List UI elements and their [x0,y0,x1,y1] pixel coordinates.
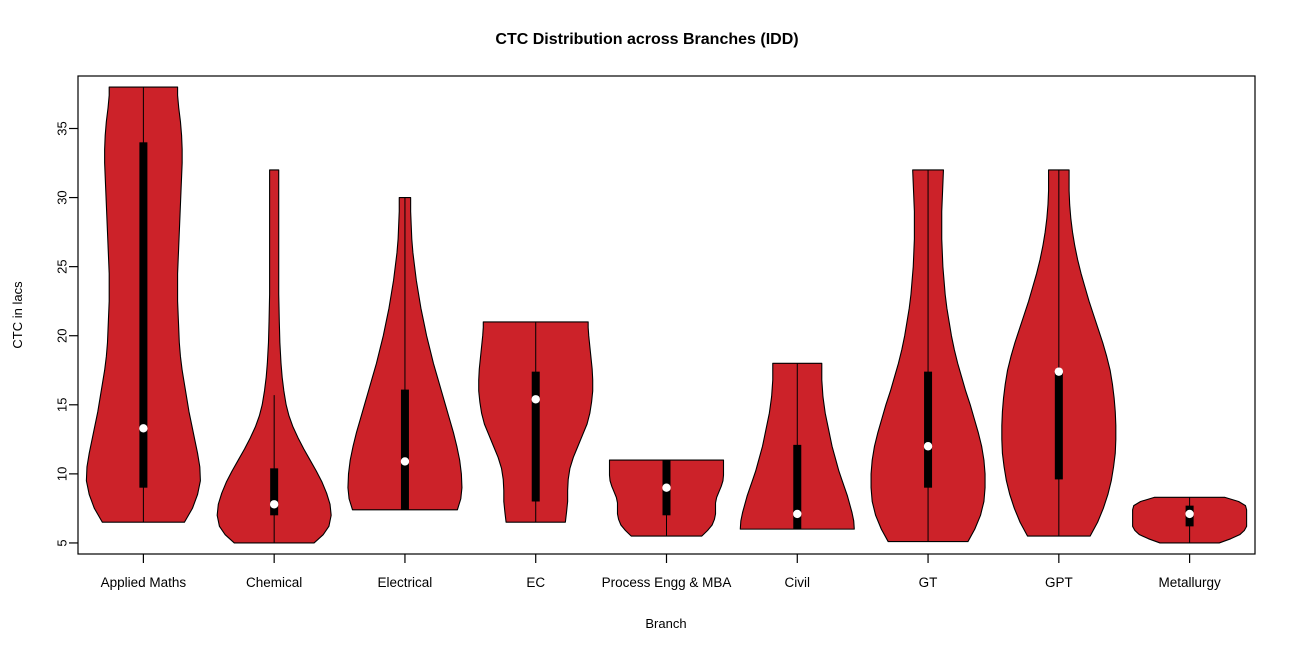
y-tick-label: 5 [55,539,70,546]
y-tick-label: 20 [55,328,70,342]
iqr-box [1055,372,1063,480]
median-marker [1055,367,1063,375]
y-tick-label: 15 [55,398,70,412]
x-tick-label: Metallurgy [1158,575,1221,590]
x-tick-label: EC [526,575,545,590]
x-tick-label: Chemical [246,575,302,590]
violin-series-group [86,87,1246,543]
iqr-box [401,390,409,510]
chart-title: CTC Distribution across Branches (IDD) [495,31,798,48]
x-axis-ticks [143,554,1189,563]
violin-metallurgy [1133,497,1247,543]
violin-ec [479,322,593,522]
violin-civil [740,363,854,529]
y-axis-ticks: 5101520253035 [55,121,79,546]
iqr-box [532,372,540,502]
x-tick-label: GT [919,575,938,590]
median-marker [270,500,278,508]
violin-gpt [1002,170,1116,536]
median-marker [401,457,409,465]
violin-chart-figure: CTC Distribution across Branches (IDD) 5… [0,0,1294,653]
median-marker [532,395,540,403]
y-tick-label: 30 [55,190,70,204]
iqr-box [139,142,147,487]
x-tick-label: Electrical [378,575,433,590]
median-marker [662,483,670,491]
median-marker [1185,510,1193,518]
iqr-box [924,372,932,488]
median-marker [139,424,147,432]
x-axis-title: Branch [645,616,686,631]
median-marker [924,442,932,450]
x-tick-label: Process Engg & MBA [602,575,732,590]
x-tick-label: Civil [785,575,811,590]
x-tick-label: Applied Maths [101,575,187,590]
violin-electrical [348,198,462,510]
x-tick-label: GPT [1045,575,1073,590]
x-axis-category-labels: Applied MathsChemicalElectricalECProcess… [101,575,1221,590]
violin-process-engg-mba [610,460,724,536]
violin-gt [871,170,985,542]
y-tick-label: 10 [55,467,70,481]
y-tick-label: 25 [55,259,70,273]
violin-applied-maths [86,87,200,522]
y-tick-label: 35 [55,121,70,135]
violin-chemical [217,170,331,543]
violin-plot-canvas: CTC Distribution across Branches (IDD) 5… [0,0,1294,653]
y-axis-title: CTC in lacs [10,281,25,349]
median-marker [793,510,801,518]
